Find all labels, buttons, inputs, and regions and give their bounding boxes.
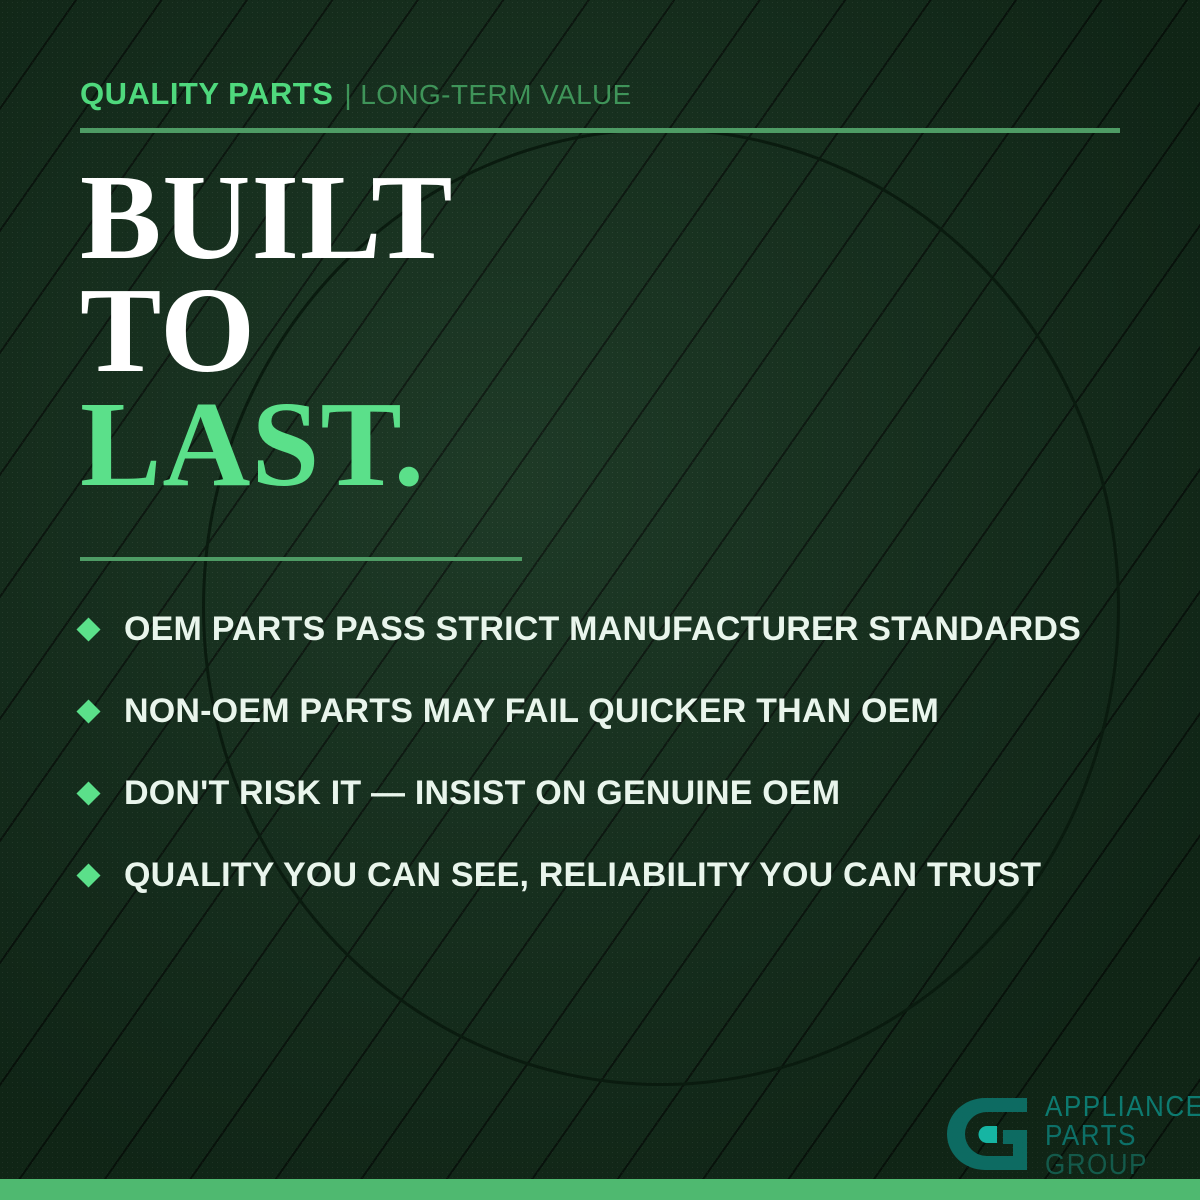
- brand-logo-wordmark: APPLIANCE PARTS GROUP: [1045, 1090, 1200, 1180]
- diamond-bullet-icon: [76, 699, 100, 723]
- brand-word-parts: PARTS: [1045, 1122, 1200, 1151]
- brand-logo: APPLIANCE PARTS GROUP: [941, 1090, 1200, 1180]
- page-title: BUILT TO LAST.: [80, 161, 454, 501]
- brand-word-appliance: APPLIANCE: [1045, 1093, 1200, 1122]
- brand-word-group: GROUP: [1045, 1151, 1200, 1180]
- poster-canvas: QUALITY PARTS | LONG-TERM VALUE BUILT TO…: [0, 0, 1200, 1200]
- list-item: QUALITY YOU CAN SEE, RELIABILITY YOU CAN…: [80, 834, 1150, 916]
- list-item-label: DON'T RISK IT — INSIST ON GENUINE OEM: [124, 774, 840, 813]
- bottom-accent-bar: [0, 1179, 1200, 1200]
- list-item-label: OEM PARTS PASS STRICT MANUFACTURER STAND…: [124, 610, 1081, 649]
- list-item: DON'T RISK IT — INSIST ON GENUINE OEM: [80, 752, 1150, 834]
- headline-line-3: LAST.: [80, 388, 454, 501]
- headline-line-2: TO: [80, 274, 454, 387]
- diamond-bullet-icon: [76, 781, 100, 805]
- eyebrow-sub-label: | LONG-TERM VALUE: [344, 79, 631, 111]
- eyebrow: QUALITY PARTS | LONG-TERM VALUE: [80, 76, 632, 112]
- list-item: NON-OEM PARTS MAY FAIL QUICKER THAN OEM: [80, 670, 1150, 752]
- headline-line-1: BUILT: [80, 161, 454, 274]
- headline-divider-rule: [80, 557, 522, 561]
- top-divider-rule: [80, 128, 1120, 133]
- diamond-bullet-icon: [76, 617, 100, 641]
- list-item-label: NON-OEM PARTS MAY FAIL QUICKER THAN OEM: [124, 692, 939, 731]
- benefit-list: OEM PARTS PASS STRICT MANUFACTURER STAND…: [80, 588, 1150, 916]
- diamond-bullet-icon: [76, 863, 100, 887]
- g-monogram-icon: [941, 1090, 1033, 1178]
- list-item: OEM PARTS PASS STRICT MANUFACTURER STAND…: [80, 588, 1150, 670]
- eyebrow-main-label: QUALITY PARTS: [80, 76, 333, 112]
- list-item-label: QUALITY YOU CAN SEE, RELIABILITY YOU CAN…: [124, 856, 1041, 895]
